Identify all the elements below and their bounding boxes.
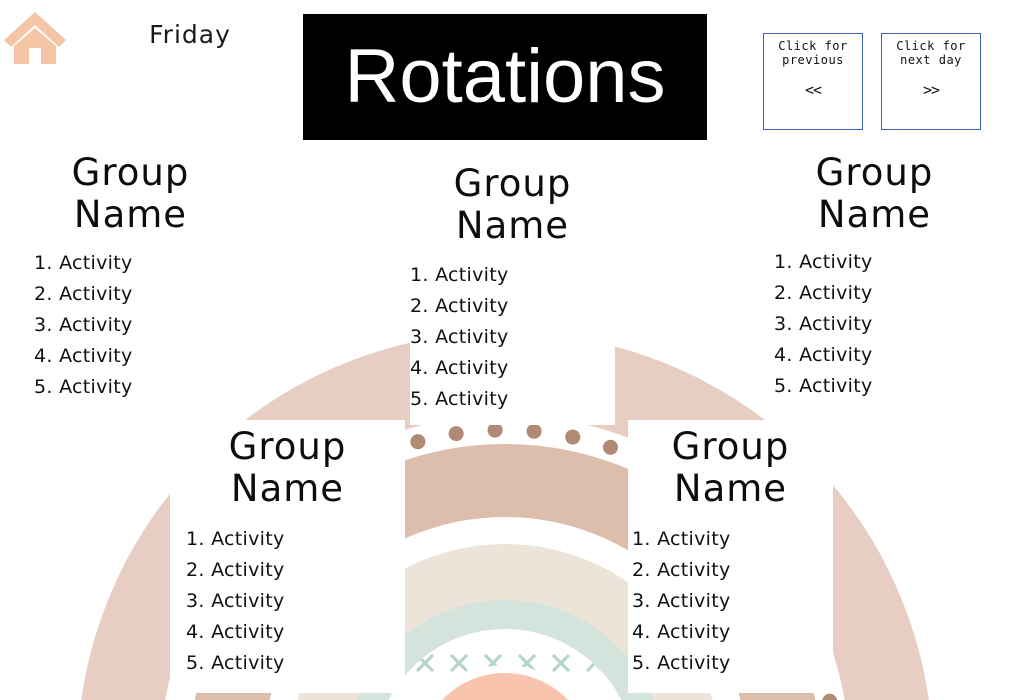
activity-item[interactable]: 3. Activity [186,586,405,617]
activity-item[interactable]: 1. Activity [632,524,833,555]
next-day-label: Click for next day [882,39,980,67]
group-name-5[interactable]: Group Name [628,426,833,510]
group-name-4[interactable]: Group Name [170,426,405,510]
group-panel-3[interactable]: Group Name 1. Activity 2. Activity 3. Ac… [762,152,987,402]
activity-item[interactable]: 2. Activity [410,291,615,322]
activity-item[interactable]: 1. Activity [774,247,987,278]
activity-item[interactable]: 4. Activity [186,617,405,648]
activity-item[interactable]: 3. Activity [632,586,833,617]
activity-item[interactable]: 3. Activity [34,310,243,341]
activity-item[interactable]: 2. Activity [774,278,987,309]
activity-item[interactable]: 4. Activity [34,341,243,372]
activity-item[interactable]: 5. Activity [186,648,405,679]
previous-day-label: Click for previous [764,39,862,67]
activity-item[interactable]: 1. Activity [34,248,243,279]
rotations-board: Friday Rotations Click for previous << C… [0,0,1011,700]
next-day-button[interactable]: Click for next day >> [881,33,981,130]
group-panel-1[interactable]: Group Name 1. Activity 2. Activity 3. Ac… [18,152,243,403]
activity-item[interactable]: 4. Activity [774,340,987,371]
activity-item[interactable]: 3. Activity [774,309,987,340]
activity-list-1: 1. Activity 2. Activity 3. Activity 4. A… [34,248,243,403]
activity-list-2: 1. Activity 2. Activity 3. Activity 4. A… [410,260,615,415]
activity-list-4: 1. Activity 2. Activity 3. Activity 4. A… [186,524,405,679]
activity-item[interactable]: 3. Activity [410,322,615,353]
group-name-3[interactable]: Group Name [762,152,987,236]
title-banner: Rotations [303,14,707,140]
group-panel-5[interactable]: Group Name 1. Activity 2. Activity 3. Ac… [628,420,833,693]
activity-list-5: 1. Activity 2. Activity 3. Activity 4. A… [632,524,833,679]
activity-item[interactable]: 2. Activity [186,555,405,586]
activity-item[interactable]: 2. Activity [34,279,243,310]
previous-day-button[interactable]: Click for previous << [763,33,863,130]
day-label: Friday [110,20,270,49]
activity-item[interactable]: 5. Activity [34,372,243,403]
group-name-1[interactable]: Group Name [18,152,243,236]
group-panel-4[interactable]: Group Name 1. Activity 2. Activity 3. Ac… [170,420,405,693]
group-panel-2[interactable]: Group Name 1. Activity 2. Activity 3. Ac… [410,155,615,425]
activity-item[interactable]: 5. Activity [410,384,615,415]
activity-item[interactable]: 5. Activity [632,648,833,679]
next-arrow-icon: >> [882,81,980,99]
page-title: Rotations [344,39,665,115]
activity-item[interactable]: 1. Activity [186,524,405,555]
group-name-2[interactable]: Group Name [410,163,615,247]
activity-item[interactable]: 5. Activity [774,371,987,402]
home-icon[interactable] [2,6,68,68]
activity-item[interactable]: 4. Activity [632,617,833,648]
activity-item[interactable]: 1. Activity [410,260,615,291]
activity-list-3: 1. Activity 2. Activity 3. Activity 4. A… [774,247,987,402]
previous-arrow-icon: << [764,81,862,99]
activity-item[interactable]: 2. Activity [632,555,833,586]
activity-item[interactable]: 4. Activity [410,353,615,384]
